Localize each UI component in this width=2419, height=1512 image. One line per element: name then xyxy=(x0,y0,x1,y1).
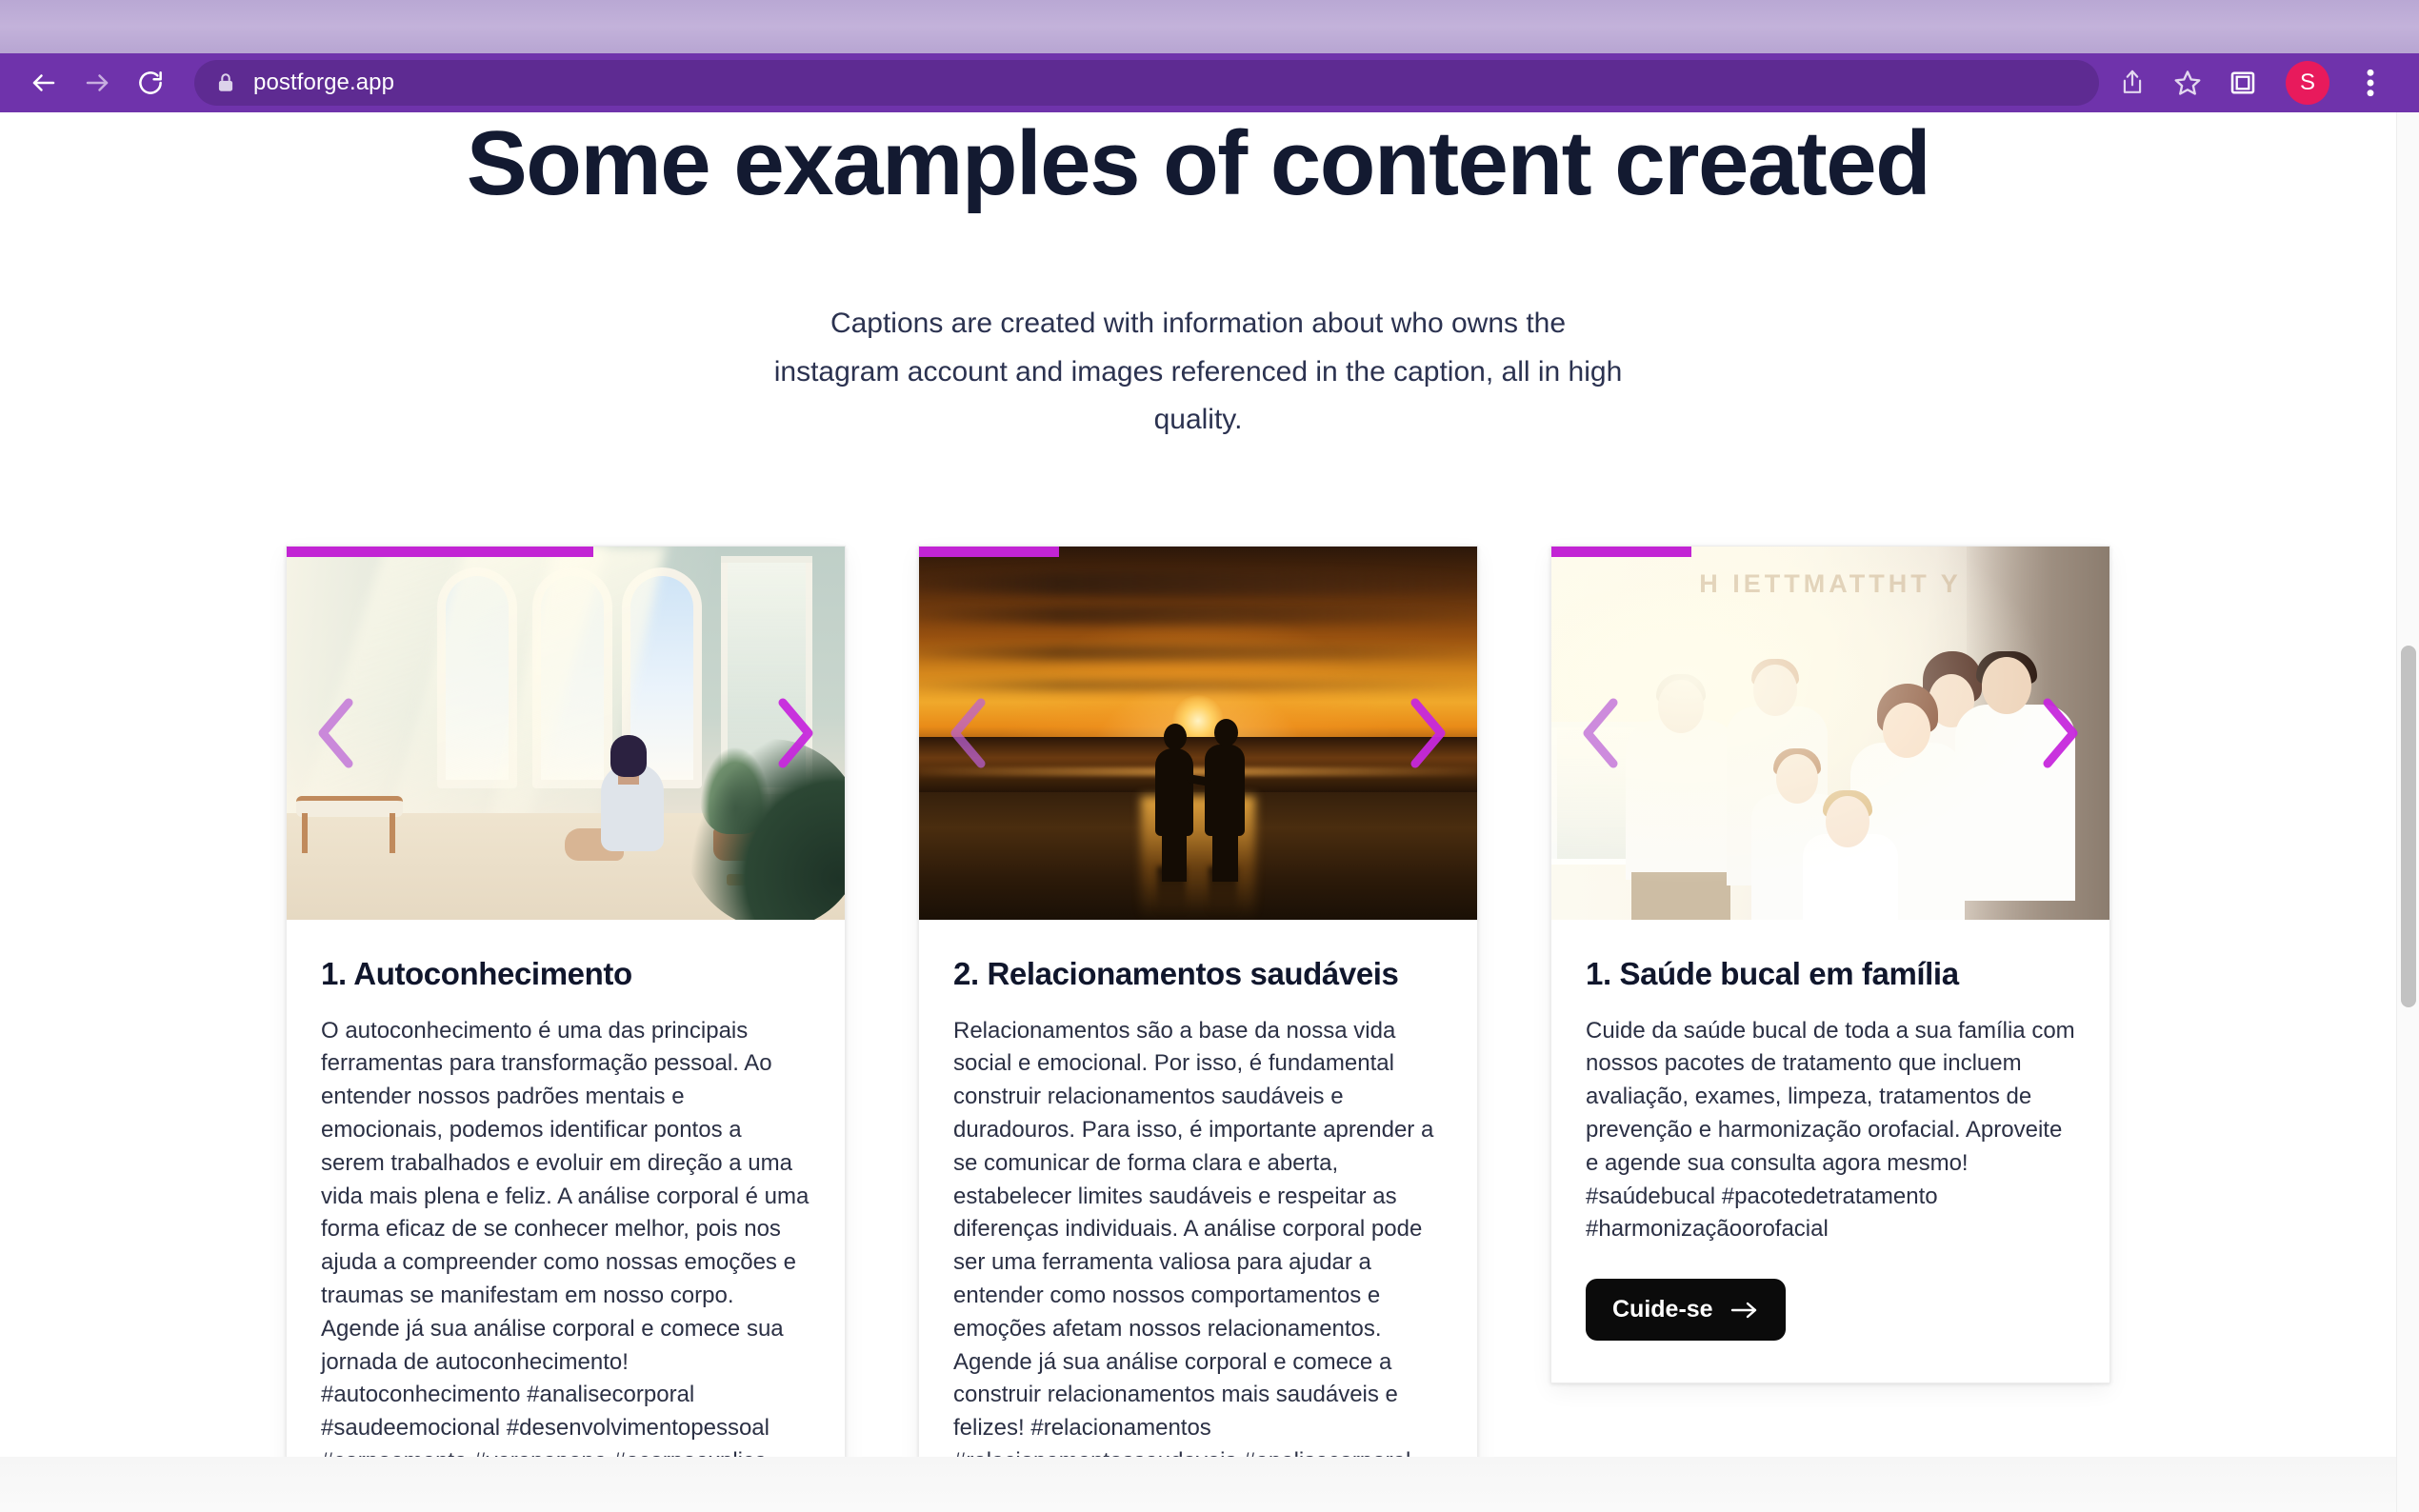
side-panel-icon[interactable] xyxy=(2215,56,2270,109)
carousel-next-icon[interactable] xyxy=(2026,687,2092,779)
example-card: H IETTMATTHT Y 1. Saúde bucal xyxy=(1550,546,2110,1384)
carousel-prev-icon[interactable] xyxy=(304,687,370,779)
card-body: 2. Relacionamentos saudáveis Relacioname… xyxy=(919,920,1477,1512)
forward-button[interactable] xyxy=(70,56,124,109)
address-bar-url: postforge.app xyxy=(253,70,394,96)
lock-icon xyxy=(215,71,236,94)
card-cta-button[interactable]: Cuide-se xyxy=(1586,1279,1786,1341)
card-cta-label: Cuide-se xyxy=(1612,1296,1713,1323)
toolbar-actions: S xyxy=(2105,56,2398,109)
carousel-next-icon[interactable] xyxy=(1393,687,1460,779)
carousel-progress-bar xyxy=(287,547,845,557)
profile-avatar[interactable]: S xyxy=(2286,61,2329,105)
browser-window: postforge.app S Some examples of content… xyxy=(0,0,2419,1512)
page-subtitle: Captions are created with information ab… xyxy=(765,300,1631,444)
carousel-prev-icon[interactable] xyxy=(1569,687,1635,779)
card-title: 2. Relacionamentos saudáveis xyxy=(953,956,1443,992)
share-icon[interactable] xyxy=(2105,56,2160,109)
star-icon[interactable] xyxy=(2160,56,2215,109)
examples-card-grid: 1. Autoconhecimento O autoconhecimento é… xyxy=(0,546,2396,1512)
card-body: 1. Saúde bucal em família Cuide da saúde… xyxy=(1551,920,2109,1383)
arrow-right-icon xyxy=(1730,1300,1759,1321)
card-image-carousel[interactable] xyxy=(287,547,845,920)
card-caption-text: Cuide da saúde bucal de toda a sua famíl… xyxy=(1586,1015,2075,1247)
carousel-progress-bar xyxy=(919,547,1477,557)
card-caption-text: Relacionamentos são a base da nossa vida… xyxy=(953,1015,1443,1512)
card-image-overlay-text: H IETTMATTHT Y xyxy=(1551,569,2109,599)
reload-button[interactable] xyxy=(124,56,177,109)
card-title: 1. Saúde bucal em família xyxy=(1586,956,2075,992)
page-viewport: Some examples of content created Caption… xyxy=(0,112,2419,1512)
carousel-progress-fill xyxy=(287,547,593,557)
card-caption-text: O autoconhecimento é uma das principais … xyxy=(321,1015,810,1479)
carousel-progress-fill xyxy=(919,547,1059,557)
page-scrollbar[interactable] xyxy=(2396,112,2419,1512)
card-body: 1. Autoconhecimento O autoconhecimento é… xyxy=(287,920,845,1512)
address-bar[interactable]: postforge.app xyxy=(194,60,2099,106)
carousel-progress-bar xyxy=(1551,547,2109,557)
back-button[interactable] xyxy=(17,56,70,109)
page-content: Some examples of content created Caption… xyxy=(0,112,2396,1512)
browser-toolbar: postforge.app S xyxy=(0,53,2419,112)
card-image-carousel[interactable] xyxy=(919,547,1477,920)
card-image-carousel[interactable]: H IETTMATTHT Y xyxy=(1551,547,2109,920)
card-title: 1. Autoconhecimento xyxy=(321,956,810,992)
carousel-next-icon[interactable] xyxy=(761,687,828,779)
scrollbar-thumb[interactable] xyxy=(2401,646,2416,1007)
carousel-progress-fill xyxy=(1551,547,1691,557)
page-title: Some examples of content created xyxy=(0,112,2396,216)
browser-tab-strip xyxy=(0,0,2419,53)
three-dot-menu-icon[interactable] xyxy=(2343,56,2398,109)
page-bottom-strip xyxy=(0,1457,2419,1512)
example-card: 1. Autoconhecimento O autoconhecimento é… xyxy=(286,546,846,1512)
example-card: 2. Relacionamentos saudáveis Relacioname… xyxy=(918,546,1478,1512)
carousel-prev-icon[interactable] xyxy=(936,687,1003,779)
